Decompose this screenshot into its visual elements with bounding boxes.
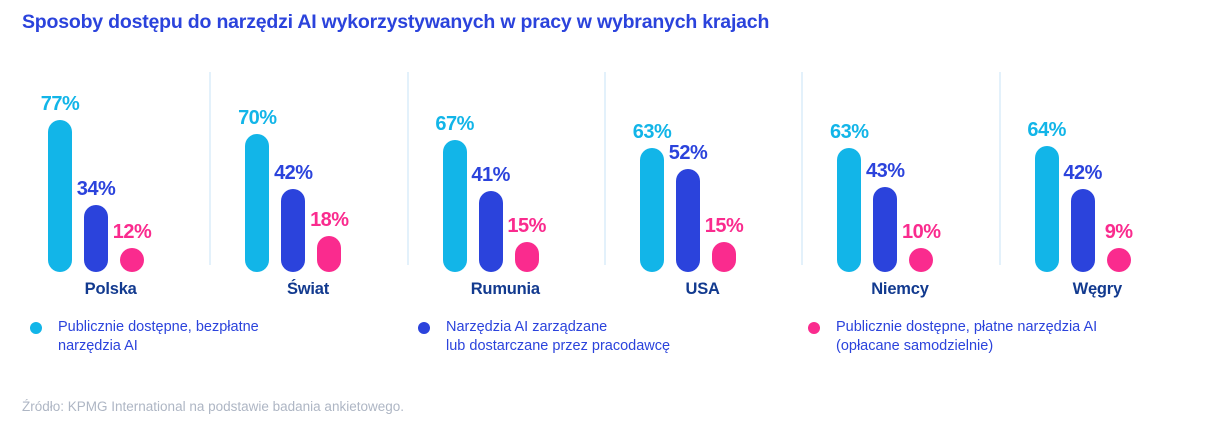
legend-item-3[interactable]: Publicznie dostępne, płatne narzędzia AI…	[808, 318, 1097, 356]
legend-dot-icon	[808, 322, 820, 334]
bar-group-świat: 70%42%18%Świat	[209, 68, 406, 308]
bar-slot: 43%	[873, 157, 897, 272]
bar-group-niemcy: 63%43%10%Niemcy	[801, 68, 998, 308]
bar-value-label: 63%	[830, 122, 869, 142]
bar-slot: 15%	[712, 212, 736, 272]
bar-slot: 64%	[1035, 116, 1059, 272]
bars: 63%52%15%	[604, 68, 801, 272]
bar-slot: 41%	[479, 161, 503, 272]
bar-polska-series-2[interactable]	[84, 205, 108, 272]
category-label-rumunia: Rumunia	[407, 280, 604, 299]
bar-value-label: 63%	[633, 122, 672, 142]
bar-value-label: 42%	[274, 163, 313, 183]
bar-usa-series-1[interactable]	[640, 148, 664, 272]
bar-świat-series-2[interactable]	[281, 189, 305, 272]
bar-slot: 42%	[281, 159, 305, 272]
bar-value-label: 52%	[669, 143, 708, 163]
bar-slot: 77%	[48, 90, 72, 272]
category-label-węgry: Węgry	[999, 280, 1196, 299]
legend-item-1[interactable]: Publicznie dostępne, bezpłatne narzędzia…	[30, 318, 259, 356]
bar-slot: 63%	[640, 118, 664, 272]
bar-slot: 63%	[837, 118, 861, 272]
legend-dot-icon	[418, 322, 430, 334]
bar-slot: 67%	[443, 110, 467, 272]
bar-group-usa: 63%52%15%USA	[604, 68, 801, 308]
bar-świat-series-3[interactable]	[317, 236, 341, 272]
bar-value-label: 64%	[1027, 120, 1066, 140]
bar-value-label: 42%	[1063, 163, 1102, 183]
category-label-świat: Świat	[209, 280, 406, 299]
bars: 67%41%15%	[407, 68, 604, 272]
bar-group-rumunia: 67%41%15%Rumunia	[407, 68, 604, 308]
bar-value-label: 18%	[310, 210, 349, 230]
chart-legend: Publicznie dostępne, bezpłatne narzędzia…	[0, 318, 1208, 378]
bar-węgry-series-3[interactable]	[1107, 248, 1131, 272]
bar-slot: 10%	[909, 218, 933, 272]
bar-rumunia-series-1[interactable]	[443, 140, 467, 272]
bar-slot: 18%	[317, 206, 341, 272]
page-title: Sposoby dostępu do narzędzi AI wykorzyst…	[22, 11, 769, 34]
bar-chart-plot-area: 77%34%12%Polska70%42%18%Świat67%41%15%Ru…	[0, 68, 1208, 308]
bar-świat-series-1[interactable]	[245, 134, 269, 272]
bar-groups-container: 77%34%12%Polska70%42%18%Świat67%41%15%Ru…	[12, 68, 1196, 308]
bar-niemcy-series-1[interactable]	[837, 148, 861, 272]
bar-slot: 15%	[515, 212, 539, 272]
category-label-usa: USA	[604, 280, 801, 299]
legend-dot-icon	[30, 322, 42, 334]
bar-usa-series-3[interactable]	[712, 242, 736, 272]
bar-value-label: 67%	[435, 114, 474, 134]
bar-niemcy-series-2[interactable]	[873, 187, 897, 272]
bar-węgry-series-2[interactable]	[1071, 189, 1095, 272]
bar-niemcy-series-3[interactable]	[909, 248, 933, 272]
bar-value-label: 70%	[238, 108, 277, 128]
bar-polska-series-1[interactable]	[48, 120, 72, 272]
source-note: Źródło: KPMG International na podstawie …	[22, 399, 404, 414]
legend-item-2[interactable]: Narzędzia AI zarządzane lub dostarczane …	[418, 318, 670, 356]
bar-group-węgry: 64%42%9%Węgry	[999, 68, 1196, 308]
bars: 77%34%12%	[12, 68, 209, 272]
bar-value-label: 34%	[77, 179, 116, 199]
category-label-polska: Polska	[12, 280, 209, 299]
bar-slot: 42%	[1071, 159, 1095, 272]
bar-value-label: 15%	[507, 216, 546, 236]
bar-slot: 52%	[676, 139, 700, 272]
bar-value-label: 9%	[1105, 222, 1133, 242]
bar-węgry-series-1[interactable]	[1035, 146, 1059, 272]
bar-slot: 9%	[1107, 218, 1131, 272]
bar-usa-series-2[interactable]	[676, 169, 700, 272]
bars: 63%43%10%	[801, 68, 998, 272]
bar-value-label: 43%	[866, 161, 905, 181]
bar-polska-series-3[interactable]	[120, 248, 144, 272]
bar-value-label: 77%	[41, 94, 80, 114]
bar-slot: 12%	[120, 218, 144, 272]
bars: 70%42%18%	[209, 68, 406, 272]
bar-slot: 34%	[84, 175, 108, 272]
legend-label: Narzędzia AI zarządzane lub dostarczane …	[446, 318, 670, 356]
bar-value-label: 41%	[471, 165, 510, 185]
bar-value-label: 15%	[705, 216, 744, 236]
bars: 64%42%9%	[999, 68, 1196, 272]
legend-label: Publicznie dostępne, płatne narzędzia AI…	[836, 318, 1097, 356]
legend-label: Publicznie dostępne, bezpłatne narzędzia…	[58, 318, 259, 356]
bar-rumunia-series-3[interactable]	[515, 242, 539, 272]
bar-rumunia-series-2[interactable]	[479, 191, 503, 272]
bar-value-label: 10%	[902, 222, 941, 242]
bar-slot: 70%	[245, 104, 269, 272]
bar-value-label: 12%	[113, 222, 152, 242]
category-label-niemcy: Niemcy	[801, 280, 998, 299]
bar-group-polska: 77%34%12%Polska	[12, 68, 209, 308]
